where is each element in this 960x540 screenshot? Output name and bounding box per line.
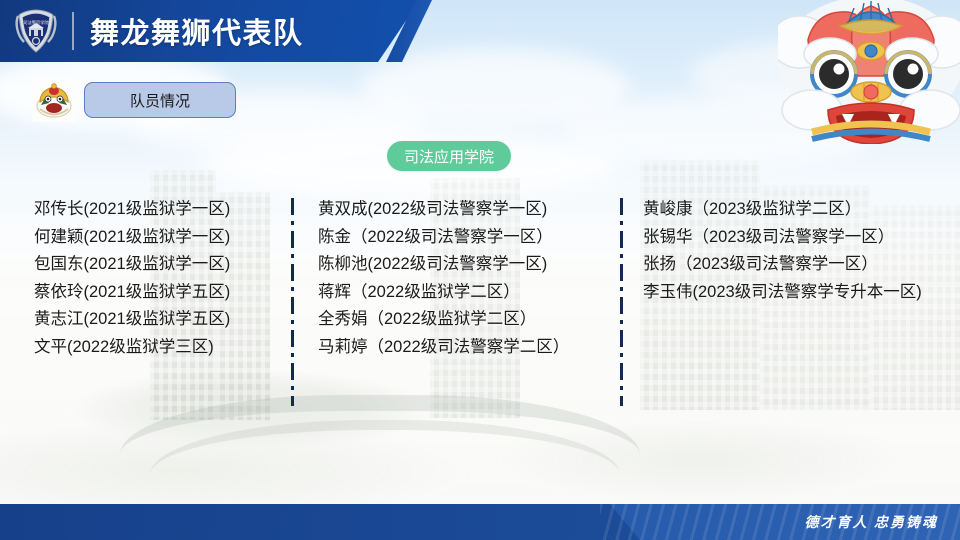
slide-canvas: 司法警官学院 舞龙舞狮代表队 [0, 0, 960, 540]
section-label: 队员情况 [84, 82, 236, 118]
member-name: 张扬（2023级司法警察学一区） [643, 251, 933, 279]
roster-column-2: 黄双成(2022级司法警察学一区) 陈金（2022级司法警察学一区） 陈柳池(2… [318, 196, 606, 361]
member-name: 蔡依玲(2021级监狱学五区) [34, 279, 284, 307]
member-name: 陈金（2022级司法警察学一区） [318, 224, 606, 252]
header-divider [72, 12, 74, 50]
member-name: 黄双成(2022级司法警察学一区) [318, 196, 606, 224]
member-name: 全秀娟（2022级监狱学二区） [318, 306, 606, 334]
page-title: 舞龙舞狮代表队 [90, 9, 304, 53]
member-name: 陈柳池(2022级司法警察学一区) [318, 251, 606, 279]
member-name: 李玉伟(2023级司法警察学专升本一区) [643, 279, 933, 307]
member-name: 何建颖(2021级监狱学一区) [34, 224, 284, 252]
member-name: 张锡华（2023级司法警察学一区） [643, 224, 933, 252]
member-name: 黄峻康（2023级监狱学二区） [643, 196, 933, 224]
roster-column-1: 邓传长(2021级监狱学一区) 何建颖(2021级监狱学一区) 包国东(2021… [34, 196, 284, 361]
roster-column-3: 黄峻康（2023级监狱学二区） 张锡华（2023级司法警察学一区） 张扬（202… [643, 196, 933, 306]
police-academy-emblem-icon: 司法警官学院 [12, 7, 60, 55]
college-badge: 司法应用学院 [387, 141, 511, 171]
member-name: 邓传长(2021级监狱学一区) [34, 196, 284, 224]
footer-motto: 德才育人 忠勇铸魂 [805, 512, 939, 532]
member-name: 马莉婷（2022级司法警察学二区） [318, 334, 606, 362]
roster-columns: 邓传长(2021级监狱学一区) 何建颖(2021级监狱学一区) 包国东(2021… [0, 196, 960, 406]
member-name: 黄志江(2021级监狱学五区) [34, 306, 284, 334]
lion-dance-head-icon [778, 0, 960, 144]
member-name: 文平(2022级监狱学三区) [34, 334, 284, 362]
footer-bar: 德才育人 忠勇铸魂 [0, 504, 960, 540]
member-name: 包国东(2021级监狱学一区) [34, 251, 284, 279]
member-name: 蒋辉（2022级监狱学二区） [318, 279, 606, 307]
lion-head-icon [32, 78, 76, 122]
